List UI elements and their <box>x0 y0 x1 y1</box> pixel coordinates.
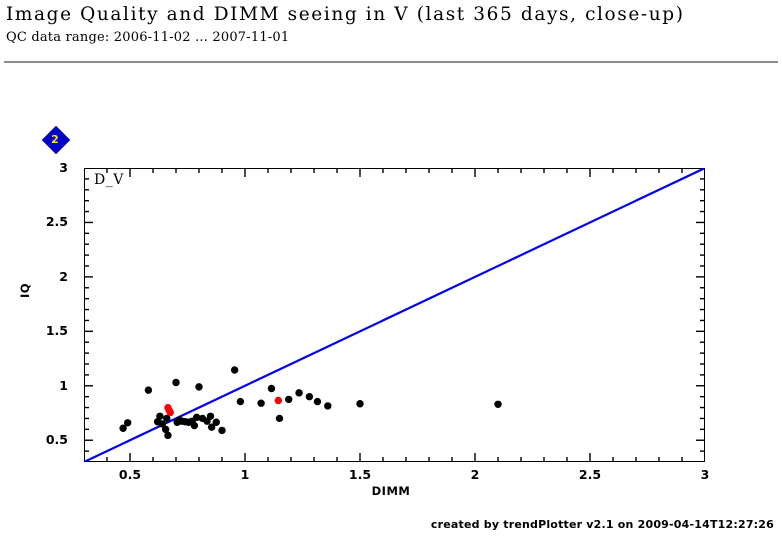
panel-index-label: 2 <box>42 126 68 152</box>
data-point <box>213 419 220 426</box>
x-tick-label: 0.5 <box>105 467 155 482</box>
data-point <box>191 422 198 429</box>
data-point <box>167 409 174 416</box>
data-point <box>231 366 238 373</box>
y-axis-title: IQ <box>18 283 32 298</box>
plot-canvas <box>84 168 705 462</box>
data-point <box>275 397 282 404</box>
scatter-plot: D_V <box>84 168 705 462</box>
data-point <box>257 400 264 407</box>
data-point <box>494 401 501 408</box>
data-point <box>276 415 283 422</box>
data-point <box>237 398 244 405</box>
data-point <box>295 389 302 396</box>
data-point <box>145 386 152 393</box>
data-point <box>164 432 171 439</box>
y-tick-label: 2 <box>59 269 68 284</box>
data-point <box>356 400 363 407</box>
qc-data-range: QC data range: 2006-11-02 ... 2007-11-01 <box>6 30 289 45</box>
data-point <box>314 398 321 405</box>
series-0 <box>119 366 501 439</box>
x-tick-label: 3 <box>680 467 730 482</box>
header-divider <box>4 61 778 63</box>
y-tick-label: 1 <box>59 378 68 393</box>
x-tick-label: 2 <box>450 467 500 482</box>
footer-credit: created by trendPlotter v2.1 on 2009-04-… <box>431 518 774 531</box>
data-point <box>268 385 275 392</box>
y-tick-label: 1.5 <box>46 323 68 338</box>
x-tick-label: 1 <box>220 467 270 482</box>
x-tick-label: 1.5 <box>335 467 385 482</box>
y-tick-label: 3 <box>59 160 68 175</box>
data-point <box>195 383 202 390</box>
panel-index-badge[interactable]: 2 <box>42 126 68 152</box>
data-point <box>306 393 313 400</box>
x-tick-label: 2.5 <box>565 467 615 482</box>
data-point <box>324 402 331 409</box>
data-point <box>285 396 292 403</box>
x-axis-title: DIMM <box>0 484 782 498</box>
series-1 <box>164 397 282 416</box>
panel-label: D_V <box>94 172 124 188</box>
page-title: Image Quality and DIMM seeing in V (last… <box>6 4 685 25</box>
data-point <box>156 413 163 420</box>
data-point <box>124 419 131 426</box>
y-tick-label: 2.5 <box>46 214 68 229</box>
data-point <box>207 413 214 420</box>
y-tick-label: 0.5 <box>46 432 68 447</box>
data-point <box>218 427 225 434</box>
data-point <box>172 379 179 386</box>
